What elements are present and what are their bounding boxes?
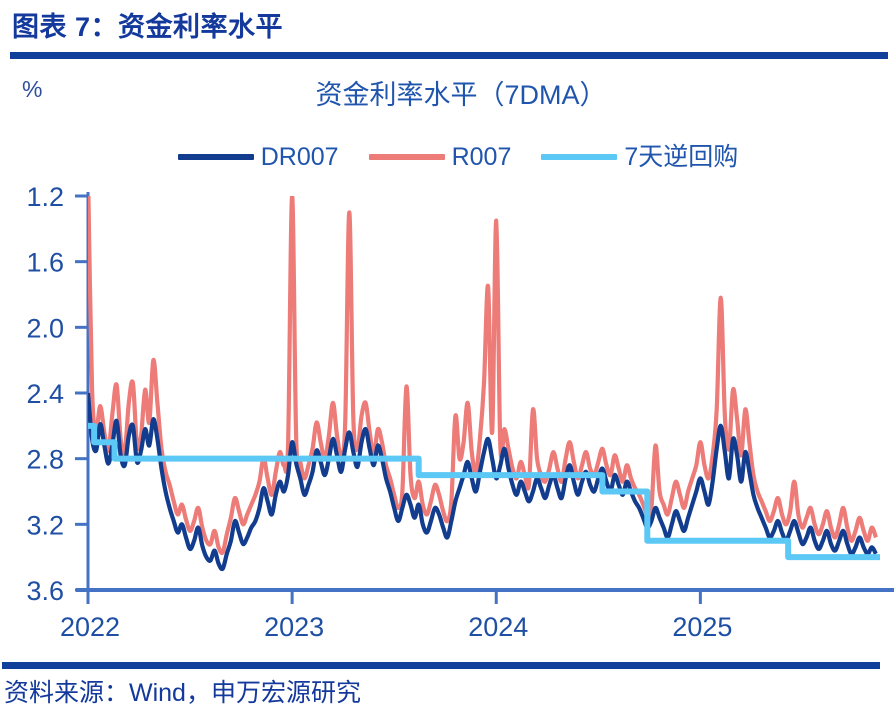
legend-swatch-r007 (369, 154, 445, 160)
legend-label-reverse-repo: 7天逆回购 (624, 143, 738, 171)
y-axis-ticks (75, 196, 88, 590)
svg-text:2025: 2025 (672, 612, 732, 642)
footer-divider (2, 662, 880, 669)
svg-text:2.0: 2.0 (26, 313, 64, 343)
svg-text:2.4: 2.4 (26, 379, 64, 409)
legend-label-r007: R007 (452, 143, 512, 171)
series-line-R007 (88, 174, 876, 553)
chart-plot: 3.63.22.82.42.01.61.2 2022202320242025 (0, 174, 894, 658)
svg-text:2022: 2022 (60, 612, 120, 642)
header-divider (10, 52, 888, 59)
legend-swatch-reverse-repo (541, 154, 617, 160)
legend-item-reverse-repo[interactable]: 7天逆回购 (541, 143, 738, 171)
plot-area: 3.63.22.82.42.01.61.2 2022202320242025 (0, 174, 894, 658)
svg-text:1.6: 1.6 (26, 248, 64, 278)
y-axis-tick-labels: 3.63.22.82.42.01.61.2 (26, 182, 64, 606)
series-lines (88, 174, 880, 569)
svg-text:1.2: 1.2 (26, 182, 64, 212)
legend-item-r007[interactable]: R007 (369, 143, 512, 171)
source-note: 资料来源：Wind，申万宏源研究 (4, 676, 361, 710)
svg-text:2024: 2024 (468, 612, 528, 642)
svg-text:2023: 2023 (264, 612, 324, 642)
x-axis-ticks (88, 590, 700, 604)
chart-card: % 资金利率水平（7DMA） DR007 R007 7天逆回购 3.63.22.… (0, 62, 894, 658)
exhibit-title: 图表 7：资金利率水平 (12, 10, 283, 44)
exhibit-header: 图表 7：资金利率水平 (8, 8, 886, 56)
legend-swatch-dr007 (178, 154, 254, 160)
legend-label-dr007: DR007 (261, 143, 339, 171)
x-axis-tick-labels: 2022202320242025 (60, 612, 732, 642)
svg-text:3.2: 3.2 (26, 510, 64, 540)
chart-legend: DR007 R007 7天逆回购 (0, 140, 894, 174)
svg-text:2.8: 2.8 (26, 445, 64, 475)
svg-text:3.6: 3.6 (26, 576, 64, 606)
legend-item-dr007[interactable]: DR007 (178, 143, 339, 171)
exhibit-page: 图表 7：资金利率水平 % 资金利率水平（7DMA） DR007 R007 7天… (0, 0, 894, 724)
chart-title: 资金利率水平（7DMA） (0, 78, 894, 112)
